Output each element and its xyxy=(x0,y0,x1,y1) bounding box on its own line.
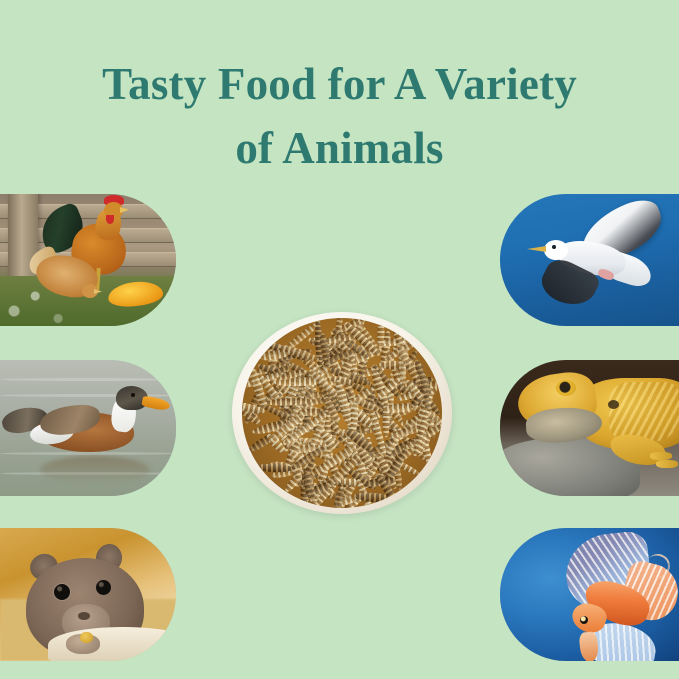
seagull-icon xyxy=(500,194,679,326)
mealworm xyxy=(256,463,292,472)
hamster-icon xyxy=(0,528,176,661)
page-title-line-1: Tasty Food for A Variety xyxy=(0,52,679,116)
product-poster: Tasty Food for A Variety of Animals xyxy=(0,0,679,679)
animal-photo-seagull xyxy=(500,194,679,326)
animal-photo-hamster xyxy=(0,528,176,661)
lizard-icon xyxy=(500,360,679,496)
page-title-line-2: of Animals xyxy=(0,116,679,180)
animal-photo-chickens xyxy=(0,194,176,326)
mealworm-pile xyxy=(242,318,442,508)
chicken-icon xyxy=(0,194,176,326)
mealworm-bowl xyxy=(232,312,452,514)
animal-photo-bearded-dragon xyxy=(500,360,679,496)
animal-photo-betta-fish xyxy=(500,528,679,661)
animal-photo-duck xyxy=(0,360,176,496)
page-title: Tasty Food for A Variety of Animals xyxy=(0,52,679,180)
duck-icon xyxy=(0,360,176,496)
fish-icon xyxy=(500,528,679,661)
